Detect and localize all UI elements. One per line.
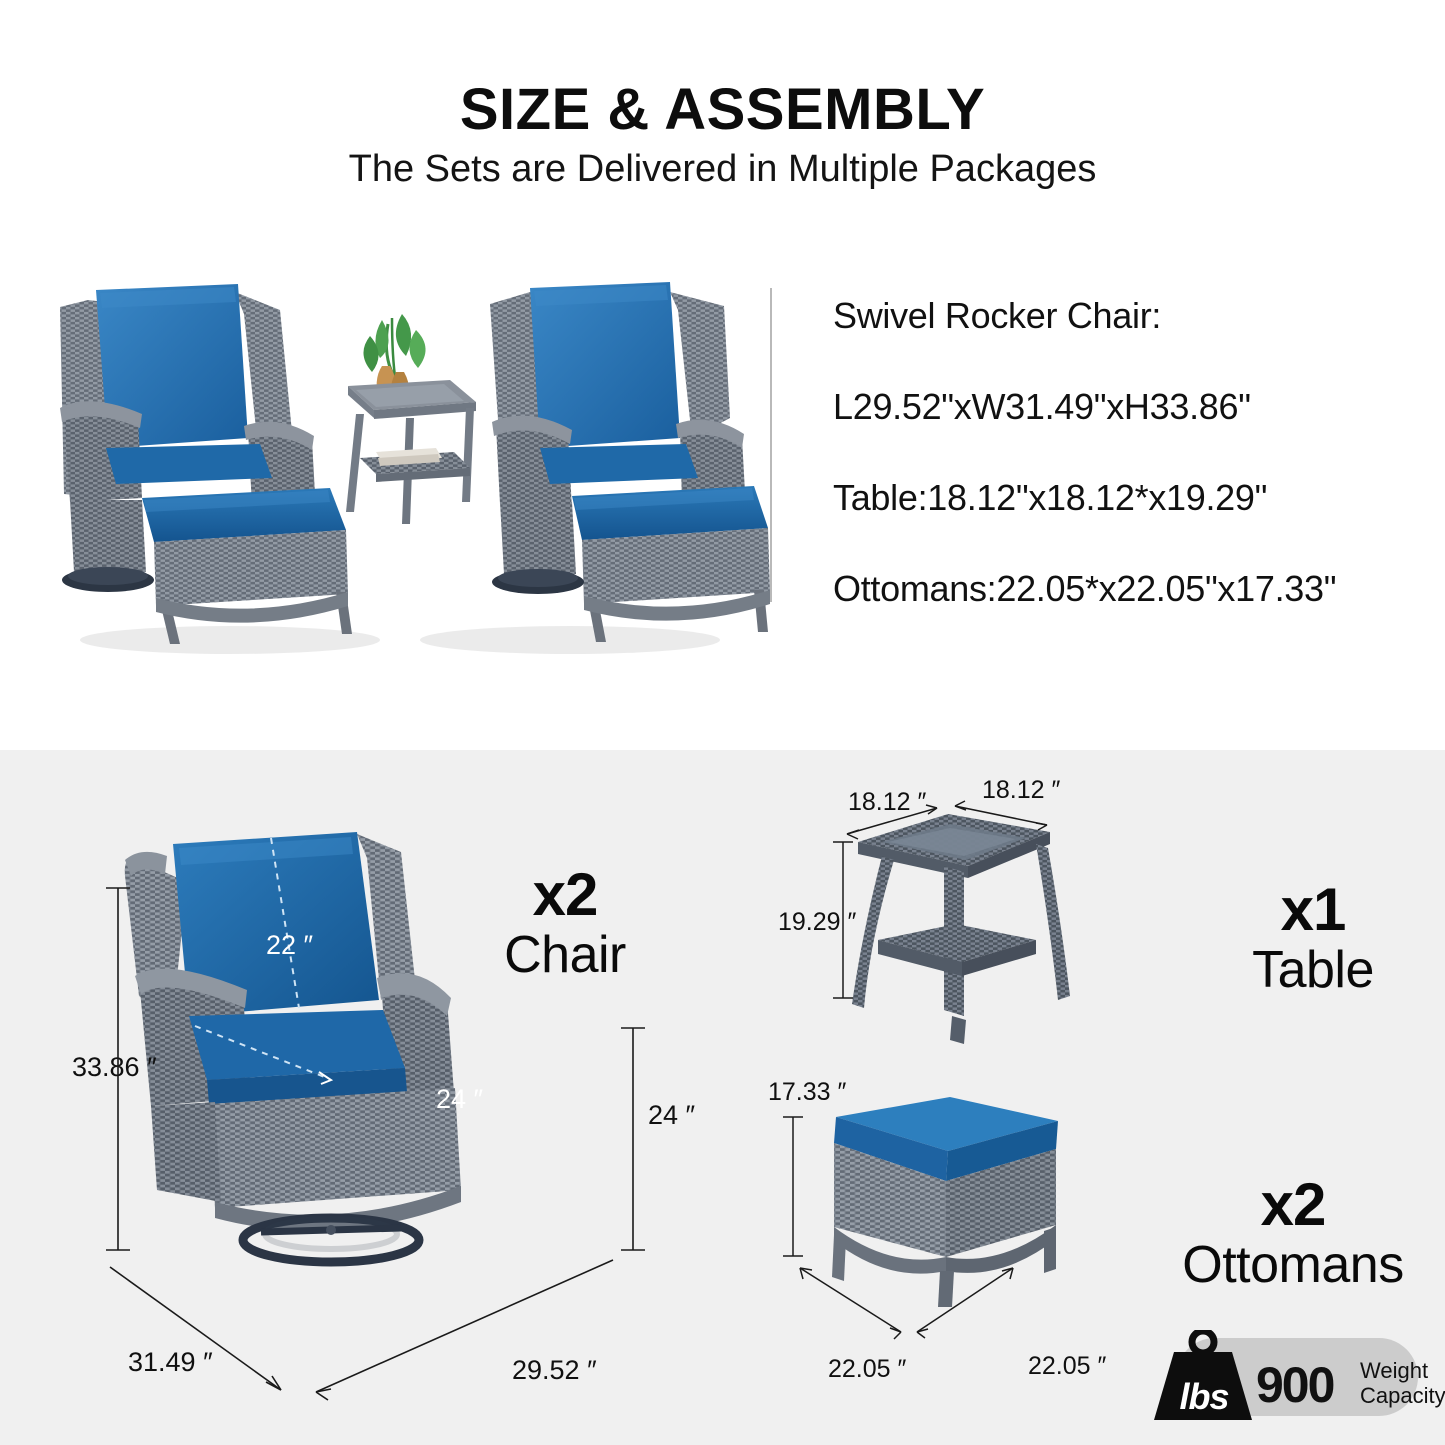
ottoman-count-label: x2 Ottomans (1168, 1175, 1418, 1291)
ottoman-height-label: 17.33 ″ (768, 1078, 846, 1107)
chair-count-name: Chair (470, 929, 660, 981)
ottoman-width-right-label: 22.05 ″ (1028, 1352, 1106, 1381)
ottoman-diagram (800, 1085, 1120, 1335)
chair-width-label: 29.52 ″ (512, 1355, 597, 1386)
table-top-left-label: 18.12 ″ (848, 788, 926, 817)
table-count-label: x1 Table (1218, 880, 1408, 996)
page-title: SIZE & ASSEMBLY (0, 76, 1445, 143)
hero-product-photo (30, 262, 770, 672)
chair-back-size-label: 22 ″ (266, 930, 313, 961)
ottoman-width-left-label: 22.05 ″ (828, 1355, 906, 1384)
page-subtitle: The Sets are Delivered in Multiple Packa… (0, 148, 1445, 191)
section-divider (770, 288, 772, 602)
badge-unit-label: lbs (1162, 1376, 1246, 1418)
chair-seat-depth-label: 24 ″ (436, 1084, 483, 1115)
chair-count-number: x2 (470, 865, 660, 925)
ottoman-count-name: Ottomans (1168, 1239, 1418, 1291)
ottoman-count-number: x2 (1168, 1175, 1418, 1235)
spec-table-dimensions: Table:18.12"x18.12*x19.29" (833, 477, 1433, 519)
table-top-right-label: 18.12 ″ (982, 776, 1060, 805)
top-section: SIZE & ASSEMBLY The Sets are Delivered i… (0, 0, 1445, 750)
weight-capacity-badge: lbs 900 Weight Capacity (1148, 1330, 1418, 1424)
spec-chair-heading: Swivel Rocker Chair: (833, 295, 1433, 337)
chair-count-label: x2 Chair (470, 865, 660, 981)
chair-depth-label: 31.49 ″ (128, 1347, 213, 1378)
badge-caption-line1: Weight (1360, 1358, 1445, 1383)
badge-caption-line2: Capacity (1360, 1383, 1445, 1408)
badge-caption: Weight Capacity (1360, 1358, 1445, 1408)
specifications-list: Swivel Rocker Chair: L29.52"xW31.49"xH33… (833, 295, 1433, 610)
table-count-name: Table (1218, 944, 1408, 996)
spec-ottoman-dimensions: Ottomans:22.05*x22.05"x17.33" (833, 568, 1433, 610)
table-count-number: x1 (1218, 880, 1408, 940)
table-diagram (840, 800, 1140, 1050)
badge-value: 900 (1256, 1356, 1333, 1414)
table-height-label: 19.29 ″ (778, 908, 856, 937)
spec-chair-dimensions: L29.52"xW31.49"xH33.86" (833, 386, 1433, 428)
chair-seat-height-label: 24 ″ (648, 1100, 695, 1131)
chair-height-label: 33.86 ″ (72, 1052, 157, 1083)
